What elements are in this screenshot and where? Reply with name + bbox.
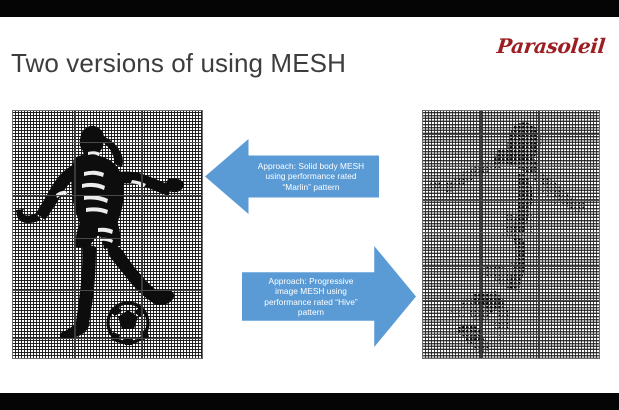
callout-right-line-1: Approach: Progressive [250, 276, 372, 286]
callout-left-line-2: using performance rated [251, 171, 371, 181]
slide-canvas: Two versions of using MESH Parasoleil [0, 17, 619, 393]
page-title: Two versions of using MESH [11, 48, 346, 79]
callout-left-line-3: “Marlin” pattern [251, 182, 371, 192]
soccer-player-solid-silhouette [12, 110, 203, 359]
callout-right-line-2: image MESH using [250, 286, 372, 296]
solid-body-mesh-panel[interactable] [12, 110, 203, 359]
callout-right-line-4: pattern [250, 307, 372, 317]
callout-right-text: Approach: Progressive image MESH using p… [242, 276, 416, 316]
parasoleil-logo: Parasoleil [496, 34, 607, 58]
soccer-player-halftone-figure [422, 110, 600, 359]
callout-arrow-right[interactable]: Approach: Progressive image MESH using p… [242, 246, 416, 347]
callout-left-line-1: Approach: Solid body MESH [251, 161, 371, 171]
progressive-image-mesh-panel[interactable] [422, 110, 600, 359]
callout-left-text: Approach: Solid body MESH using performa… [205, 161, 379, 191]
letterbox-bar-top [0, 0, 619, 17]
callout-right-line-3: performance rated “Hive” [250, 297, 372, 307]
callout-arrow-left[interactable]: Approach: Solid body MESH using performa… [205, 139, 379, 214]
letterbox-bar-bottom [0, 393, 619, 410]
slide-root: Two versions of using MESH Parasoleil [0, 0, 619, 410]
